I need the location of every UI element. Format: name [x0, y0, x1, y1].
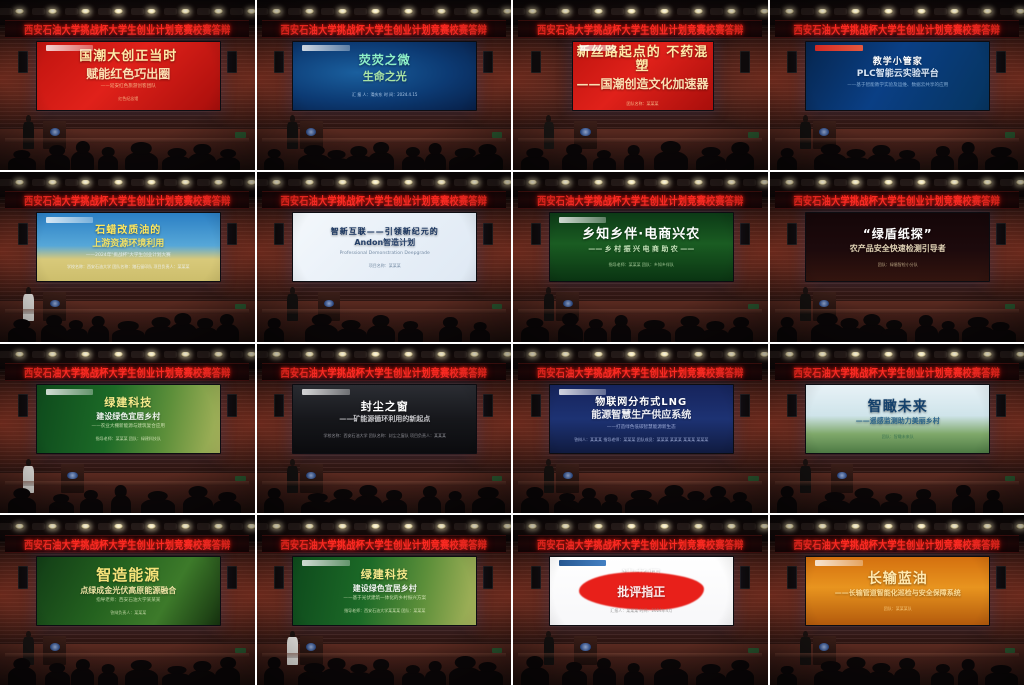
slide-meta: 团队名称：某某某	[627, 101, 659, 106]
speaker-right	[227, 394, 237, 416]
collage-photo-5: 西安石油大学挑战杯大学生创业计划竞赛校赛答辩石蜡改质油的上游资源环境利用——20…	[0, 172, 255, 342]
stage-light-icon	[594, 180, 603, 185]
light-fixture-housing	[354, 8, 367, 15]
stage-light-icon	[147, 9, 156, 14]
led-banner: 西安石油大学挑战杯大学生创业计划竞赛校赛答辩	[5, 191, 249, 209]
collage-photo-16: 西安石油大学挑战杯大学生创业计划竞赛校赛答辩长输蓝油——长输管道智能化巡检与安全…	[770, 515, 1024, 685]
light-fixture-housing	[801, 179, 814, 186]
stage-light-icon	[147, 524, 156, 529]
led-banner: 西安石油大学挑战杯大学生创业计划竞赛校赛答辩	[518, 20, 762, 38]
light-fixture-housing	[164, 523, 177, 530]
stage-light-icon	[371, 524, 380, 529]
led-banner: 西安石油大学挑战杯大学生创业计划竞赛校赛答辩	[775, 363, 1019, 381]
light-fixture-housing	[1000, 351, 1013, 358]
presentation-screen: 新丝路起点的 不药混塑——国潮创造文化加速器团队名称：某某某	[572, 41, 714, 111]
led-banner: 西安石油大学挑战杯大学生创业计划竞赛校赛答辩	[518, 535, 762, 553]
light-fixture-housing	[934, 8, 947, 15]
stage-light-icon	[305, 9, 314, 14]
light-fixture-housing	[197, 523, 210, 530]
green-build-logo-icon	[302, 560, 350, 566]
stage-light-icon	[81, 9, 90, 14]
speaker-left	[787, 566, 797, 588]
speaker-right	[483, 223, 493, 245]
slide-meta: 指导老师：西安石油大学某某某 团队：某某某	[344, 608, 425, 613]
stage-light-icon	[114, 524, 123, 529]
slide-content: 绿建科技建设绿色宜居乡村——基于光伏建筑一体化的乡村振兴方案指导老师：西安石油大…	[293, 557, 476, 625]
led-banner-text: 西安石油大学挑战杯大学生创业计划竞赛校赛答辩	[24, 192, 231, 208]
slide-title: 智新互联——引领新纪元的	[331, 227, 439, 236]
light-fixture-housing	[611, 179, 624, 186]
stage-light-icon	[214, 9, 223, 14]
stage-light-icon	[147, 352, 156, 357]
light-fixture-housing	[98, 179, 111, 186]
speaker-right	[227, 51, 237, 73]
light-fixture-housing	[164, 8, 177, 15]
slide-title: 长输蓝油	[868, 571, 928, 587]
speaker-right	[996, 394, 1006, 416]
lighting-truss	[0, 5, 255, 17]
stage-light-icon	[785, 9, 794, 14]
collage-photo-14: 西安石油大学挑战杯大学生创业计划竞赛校赛答辩绿建科技建设绿色宜居乡村——基于光伏…	[257, 515, 512, 685]
slide-subtitle: 能源智慧生产供应系统	[591, 410, 691, 422]
stage-light-icon	[660, 524, 669, 529]
light-fixture-housing	[288, 351, 301, 358]
exit-sign	[1005, 648, 1015, 653]
stage-light-icon	[503, 180, 511, 185]
speaker-right	[996, 223, 1006, 245]
stage-light-icon	[818, 9, 827, 14]
light-fixture-housing	[230, 523, 243, 530]
light-fixture-housing	[257, 351, 269, 358]
slide-title: 绿建科技	[104, 397, 152, 410]
slide-content: “绿盾纸探”农产品安全快速检测引导者团队：绿盾智检小分队	[806, 213, 989, 281]
stage-light-icon	[851, 180, 860, 185]
light-fixture-housing	[387, 523, 400, 530]
slide-meta: 汇 报 人：滑庆东 时 间：2024.4.15	[352, 92, 417, 97]
light-fixture-housing	[710, 351, 723, 358]
stage-light-icon	[627, 352, 636, 357]
presentation-screen: 封尘之窗——矿能源循环利用的新起点学校名称：西安石油大学 团队名称：封尘之窗队 …	[292, 384, 477, 454]
stage-light-icon	[181, 352, 190, 357]
presentation-screen: 荧荧之微生命之光汇 报 人：滑庆东 时 间：2024.4.15	[292, 41, 477, 111]
speaker-left	[274, 223, 284, 245]
light-fixture-housing	[900, 8, 913, 15]
light-fixture-housing	[578, 8, 591, 15]
stage-light-icon	[528, 180, 537, 185]
stage-light-icon	[660, 180, 669, 185]
stage-light-icon	[272, 180, 281, 185]
light-fixture-housing	[801, 8, 814, 15]
stage-light-icon	[594, 524, 603, 529]
slide-subtitle: PLC智能云实验平台	[857, 69, 939, 80]
slide-content: 新丝路起点的 不药混塑——国潮创造文化加速器团队名称：某某某	[573, 42, 713, 110]
lighting-truss	[257, 177, 512, 189]
speaker-right	[227, 223, 237, 245]
lighting-truss	[770, 177, 1024, 189]
stage-light-icon	[305, 524, 314, 529]
stage-light-icon	[48, 352, 57, 357]
xian-shiyou-university-logo-icon	[559, 560, 607, 566]
slide-title: 石蜡改质油的	[95, 225, 161, 237]
university-logo-icon	[815, 560, 863, 566]
led-banner: 西安石油大学挑战杯大学生创业计划竞赛校赛答辩	[5, 20, 249, 38]
speaker-right	[996, 51, 1006, 73]
light-fixture-housing	[578, 179, 591, 186]
stage-light-icon	[884, 352, 893, 357]
slide-meta: 汇报人：某某某 时间：2024年4月	[610, 608, 672, 613]
light-fixture-housing	[321, 523, 334, 530]
stage-light-icon	[272, 9, 281, 14]
stage-light-icon	[561, 9, 570, 14]
light-fixture-housing	[1000, 179, 1013, 186]
speaker-left	[274, 394, 284, 416]
presentation-screen: 物联网分布式LNG能源智慧生产供应系统——打造绿色低碳智慧能源新生态答辩人：某某…	[549, 384, 734, 454]
university-logo-icon	[580, 45, 616, 51]
stage-light-icon	[371, 352, 380, 357]
light-fixture-housing	[743, 8, 756, 15]
slide-subtitle: —— 乡 村 振 兴 电 商 助 农 ——	[588, 245, 694, 253]
light-fixture-housing	[387, 351, 400, 358]
university-logo-icon	[46, 45, 94, 51]
slide-meta: 项目名称：某某某	[369, 263, 401, 268]
light-fixture-housing	[487, 8, 500, 15]
xian-shiyou-university-logo-icon	[302, 45, 350, 51]
stage-light-icon	[15, 9, 24, 14]
slide-content: 国潮大创正当时赋能红色巧出圈——延安红色旅游创客团队红色纪念馆	[37, 42, 220, 110]
light-fixture-housing	[644, 351, 657, 358]
collage-photo-3: 西安石油大学挑战杯大学生创业计划竞赛校赛答辩新丝路起点的 不药混塑——国潮创造文…	[513, 0, 768, 170]
slide-tagline: ——2024年"挑战杯"大学生创业计划大赛	[86, 253, 171, 259]
light-fixture-housing	[0, 8, 12, 15]
stage-light-icon	[404, 352, 413, 357]
led-banner-text: 西安石油大学挑战杯大学生创业计划竞赛校赛答辩	[793, 536, 1000, 552]
stage-light-icon	[48, 524, 57, 529]
led-banner-text: 西安石油大学挑战杯大学生创业计划竞赛校赛答辩	[537, 536, 744, 552]
stage-light-icon	[983, 352, 992, 357]
led-banner: 西安石油大学挑战杯大学生创业计划竞赛校赛答辩	[262, 20, 506, 38]
audience-row	[513, 473, 768, 514]
lighting-truss	[770, 349, 1024, 361]
light-fixture-housing	[32, 8, 45, 15]
light-fixture-housing	[834, 523, 847, 530]
slide-meta: 学校名称：西安石油大学 团队名称：封尘之窗队 项目负责人：某某某	[323, 433, 446, 438]
light-fixture-housing	[98, 8, 111, 15]
speaker-left	[531, 223, 541, 245]
light-fixture-housing	[131, 179, 144, 186]
slide-tagline: ——基于智能教学实验及运维、数据云共享的应用	[847, 83, 948, 89]
stage-light-icon	[503, 524, 511, 529]
exit-sign	[492, 132, 502, 137]
collage-photo-13: 西安石油大学挑战杯大学生创业计划竞赛校赛答辩智造能源点绿成金光伏高原能源融合指导…	[0, 515, 255, 685]
stage-light-icon	[371, 180, 380, 185]
lighting-truss	[257, 5, 512, 17]
slide-content: 智造能源点绿成金光伏高原能源融合指导老师：西安石油大学某某某答辩负责人：某某某	[37, 557, 220, 625]
led-banner: 西安石油大学挑战杯大学生创业计划竞赛校赛答辩	[518, 363, 762, 381]
xian-shiyou-university-logo-icon	[559, 389, 607, 395]
stage-light-icon	[338, 352, 347, 357]
slide-tagline: 指导老师：西安石油大学某某某	[96, 598, 160, 604]
university-logo-icon	[302, 389, 350, 395]
collage-photo-4: 西安石油大学挑战杯大学生创业计划竞赛校赛答辩教学小管家PLC智能云实验平台——基…	[770, 0, 1024, 170]
stage-light-icon	[760, 9, 768, 14]
light-fixture-housing	[644, 523, 657, 530]
stage-light-icon	[181, 180, 190, 185]
stage-light-icon	[272, 524, 281, 529]
light-fixture-housing	[578, 523, 591, 530]
stage-light-icon	[760, 180, 768, 185]
slide-content: 长输蓝油——长输管道智能化巡检与安全保障系统团队：某某某队	[806, 557, 989, 625]
audience-row	[0, 473, 255, 514]
collage-photo-8: 西安石油大学挑战杯大学生创业计划竞赛校赛答辩“绿盾纸探”农产品安全快速检测引导者…	[770, 172, 1024, 342]
stage-light-icon	[884, 524, 893, 529]
light-fixture-housing	[710, 523, 723, 530]
slide-subtitle: ——遥感监测助力美丽乡村	[856, 417, 940, 425]
audience-row	[770, 473, 1024, 514]
stage-light-icon	[694, 352, 703, 357]
light-fixture-housing	[487, 179, 500, 186]
stage-light-icon	[983, 180, 992, 185]
light-fixture-housing	[967, 179, 980, 186]
light-fixture-housing	[454, 8, 467, 15]
light-fixture-housing	[354, 351, 367, 358]
light-fixture-housing	[900, 351, 913, 358]
slide-meta: 答辩负责人：某某某	[110, 610, 146, 615]
light-fixture-housing	[801, 351, 814, 358]
stage-light-icon	[247, 352, 255, 357]
slide-subtitle: 上游资源环境利用	[92, 239, 164, 250]
speaker-right	[483, 566, 493, 588]
exit-sign	[748, 476, 758, 481]
slide-tagline: ——农业大棚新能源与建筑复合应用	[91, 424, 165, 430]
light-fixture-housing	[677, 179, 690, 186]
stage-light-icon	[851, 352, 860, 357]
light-fixture-housing	[257, 523, 269, 530]
stage-light-icon	[247, 180, 255, 185]
speaker-left	[531, 51, 541, 73]
speaker-right	[483, 394, 493, 416]
presentation-screen: 绿建科技建设绿色宜居乡村——农业大棚新能源与建筑复合应用指导老师：某某某 团队：…	[36, 384, 221, 454]
light-fixture-housing	[487, 523, 500, 530]
light-fixture-housing	[65, 523, 78, 530]
light-fixture-housing	[32, 179, 45, 186]
light-fixture-housing	[545, 179, 558, 186]
light-fixture-housing	[644, 179, 657, 186]
slide-title: 教学小管家	[873, 57, 923, 67]
presentation-screen: 国潮大创正当时赋能红色巧出圈——延安红色旅游创客团队红色纪念馆	[36, 41, 221, 111]
light-fixture-housing	[230, 179, 243, 186]
led-banner-text: 西安石油大学挑战杯大学生创业计划竞赛校赛答辩	[24, 536, 231, 552]
stage-light-icon	[851, 9, 860, 14]
light-fixture-housing	[164, 351, 177, 358]
slide-title: “绿盾纸探”	[863, 228, 933, 242]
led-banner-text: 西安石油大学挑战杯大学生创业计划竞赛校赛答辩	[793, 21, 1000, 37]
slide-title: 国潮大创正当时	[79, 50, 177, 65]
stage-light-icon	[48, 9, 57, 14]
stage-light-icon	[727, 180, 736, 185]
stage-light-icon	[437, 180, 446, 185]
slide-content: 石蜡改质油的上游资源环境利用——2024年"挑战杯"大学生创业计划大赛学校名称：…	[37, 213, 220, 281]
light-fixture-housing	[321, 179, 334, 186]
light-fixture-housing	[513, 179, 525, 186]
stage-light-icon	[15, 180, 24, 185]
stage-light-icon	[404, 9, 413, 14]
lighting-truss	[257, 520, 512, 532]
led-banner-text: 西安石油大学挑战杯大学生创业计划竞赛校赛答辩	[537, 192, 744, 208]
exit-sign	[492, 304, 502, 309]
light-fixture-housing	[677, 351, 690, 358]
light-fixture-housing	[867, 179, 880, 186]
xian-shiyou-university-logo-icon	[46, 217, 94, 223]
lighting-truss	[513, 520, 768, 532]
collage-photo-11: 西安石油大学挑战杯大学生创业计划竞赛校赛答辩物联网分布式LNG能源智慧生产供应系…	[513, 344, 768, 514]
slide-title: 物联网分布式LNG	[595, 397, 687, 409]
light-fixture-housing	[288, 8, 301, 15]
slide-content: 智瞰未来——遥感监测助力美丽乡村团队：智瞰未来队	[806, 385, 989, 453]
collage-photo-10: 西安石油大学挑战杯大学生创业计划竞赛校赛答辩封尘之窗——矿能源循环利用的新起点学…	[257, 344, 512, 514]
light-fixture-housing	[421, 351, 434, 358]
stage-light-icon	[15, 352, 24, 357]
light-fixture-housing	[934, 179, 947, 186]
stage-light-icon	[470, 9, 479, 14]
collage-photo-9: 西安石油大学挑战杯大学生创业计划竞赛校赛答辩绿建科技建设绿色宜居乡村——农业大棚…	[0, 344, 255, 514]
stage-light-icon	[214, 352, 223, 357]
led-banner-text: 西安石油大学挑战杯大学生创业计划竞赛校赛答辩	[24, 21, 231, 37]
slide-meta: 红色纪念馆	[118, 96, 138, 101]
light-fixture-housing	[454, 179, 467, 186]
stage-light-icon	[785, 352, 794, 357]
stage-light-icon	[338, 180, 347, 185]
led-banner-text: 西安石油大学挑战杯大学生创业计划竞赛校赛答辩	[793, 364, 1000, 380]
light-fixture-housing	[934, 351, 947, 358]
slide-title: 智瞰未来	[868, 399, 928, 415]
light-fixture-housing	[454, 351, 467, 358]
slide-meta: 学校名称：西安石油大学 团队名称：踏石留印队 项目负责人：某某某	[67, 264, 190, 269]
light-fixture-housing	[354, 523, 367, 530]
audience-row	[0, 301, 255, 342]
speaker-left	[18, 566, 28, 588]
slide-subtitle: ——矿能源循环利用的新起点	[339, 415, 430, 423]
slide-subtitle: 农产品安全快速检测引导者	[850, 244, 946, 254]
stage-light-icon	[818, 180, 827, 185]
stage-light-icon	[503, 9, 511, 14]
light-fixture-housing	[32, 351, 45, 358]
stage-light-icon	[917, 9, 926, 14]
stage-light-icon	[694, 180, 703, 185]
slide-content: 荧荧之微生命之光汇 报 人：滑庆东 时 间：2024.4.15	[293, 42, 476, 110]
collage-photo-7: 西安石油大学挑战杯大学生创业计划竞赛校赛答辩乡知乡伴·电商兴农—— 乡 村 振 …	[513, 172, 768, 342]
light-fixture-housing	[513, 351, 525, 358]
slide-content: 智新互联——引领新纪元的Andon智造计划Professional Demons…	[293, 213, 476, 281]
stage-light-icon	[950, 9, 959, 14]
stage-light-icon	[528, 9, 537, 14]
exit-sign	[1005, 304, 1015, 309]
stage-light-icon	[917, 180, 926, 185]
stage-light-icon	[1016, 180, 1024, 185]
stage-light-icon	[627, 9, 636, 14]
collage-photo-12: 西安石油大学挑战杯大学生创业计划竞赛校赛答辩智瞰未来——遥感监测助力美丽乡村团队…	[770, 344, 1024, 514]
speaker-right	[996, 566, 1006, 588]
stage-light-icon	[528, 352, 537, 357]
light-fixture-housing	[545, 523, 558, 530]
light-fixture-housing	[0, 523, 12, 530]
light-fixture-housing	[644, 8, 657, 15]
slide-subtitle: 批评指正	[617, 585, 665, 599]
light-fixture-housing	[487, 351, 500, 358]
exit-sign	[1005, 132, 1015, 137]
stage-light-icon	[950, 180, 959, 185]
stage-light-icon	[48, 180, 57, 185]
speaker-left	[274, 566, 284, 588]
light-fixture-housing	[421, 523, 434, 530]
stage-light-icon	[305, 352, 314, 357]
lighting-truss	[0, 177, 255, 189]
slide-tagline: ——基于光伏建筑一体化的乡村振兴方案	[343, 596, 426, 602]
stage-light-icon	[528, 524, 537, 529]
exit-sign	[748, 304, 758, 309]
exit-sign	[1005, 476, 1015, 481]
light-fixture-housing	[131, 523, 144, 530]
light-fixture-housing	[257, 8, 269, 15]
stage-light-icon	[214, 524, 223, 529]
speaker-left	[531, 394, 541, 416]
speaker-right	[740, 223, 750, 245]
light-fixture-housing	[934, 523, 947, 530]
light-fixture-housing	[321, 8, 334, 15]
slide-subtitle: 建设绿色宜居乡村	[96, 412, 160, 422]
slide-subtitle: ——长输管道智能化巡检与安全保障系统	[835, 589, 961, 597]
lighting-truss	[770, 520, 1024, 532]
slide-subtitle: 赋能红色巧出圈	[86, 67, 170, 81]
light-fixture-housing	[354, 179, 367, 186]
presentation-screen: 智造能源点绿成金光伏高原能源融合指导老师：西安石油大学某某某答辩负责人：某某某	[36, 556, 221, 626]
exit-sign	[492, 476, 502, 481]
exit-sign	[492, 648, 502, 653]
presentation-screen: 石蜡改质油的上游资源环境利用——2024年"挑战杯"大学生创业计划大赛学校名称：…	[36, 212, 221, 282]
led-banner: 西安石油大学挑战杯大学生创业计划竞赛校赛答辩	[775, 191, 1019, 209]
light-fixture-housing	[867, 8, 880, 15]
light-fixture-housing	[611, 8, 624, 15]
collage-photo-6: 西安石油大学挑战杯大学生创业计划竞赛校赛答辩智新互联——引领新纪元的Andon智…	[257, 172, 512, 342]
light-fixture-housing	[743, 179, 756, 186]
light-fixture-housing	[834, 179, 847, 186]
stage-light-icon	[983, 524, 992, 529]
stage-light-icon	[561, 524, 570, 529]
slide-content: 封尘之窗——矿能源循环利用的新起点学校名称：西安石油大学 团队名称：封尘之窗队 …	[293, 385, 476, 453]
light-fixture-housing	[900, 523, 913, 530]
slide-subtitle: 点绿成金光伏高原能源融合	[80, 586, 176, 596]
audience-row	[0, 129, 255, 170]
exit-sign	[748, 132, 758, 137]
exit-sign	[748, 648, 758, 653]
light-fixture-housing	[164, 179, 177, 186]
speaker-right	[483, 51, 493, 73]
light-fixture-housing	[65, 179, 78, 186]
stage-light-icon	[181, 9, 190, 14]
stage-light-icon	[917, 352, 926, 357]
light-fixture-housing	[611, 523, 624, 530]
stage-light-icon	[727, 524, 736, 529]
stage-light-icon	[561, 180, 570, 185]
led-banner-text: 西安石油大学挑战杯大学生创业计划竞赛校赛答辩	[537, 364, 744, 380]
stage-light-icon	[594, 9, 603, 14]
light-fixture-housing	[387, 179, 400, 186]
exit-sign	[235, 476, 245, 481]
light-fixture-housing	[677, 523, 690, 530]
led-banner-text: 西安石油大学挑战杯大学生创业计划竞赛校赛答辩	[280, 536, 487, 552]
light-fixture-housing	[834, 8, 847, 15]
presentation-screen: 教学小管家PLC智能云实验平台——基于智能教学实验及运维、数据云共享的应用	[805, 41, 990, 111]
light-fixture-housing	[197, 179, 210, 186]
